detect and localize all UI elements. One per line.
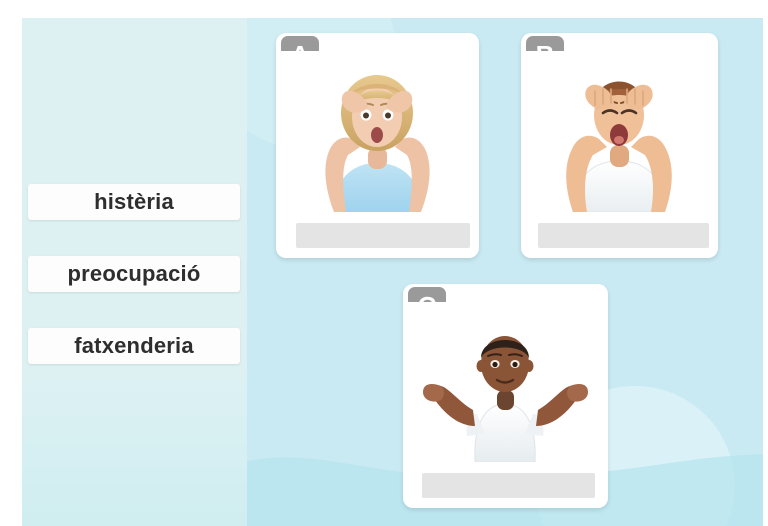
activity-canvas: histèria preocupació fatxenderia A: [0, 0, 768, 526]
photo-boy-screaming-icon: [521, 51, 718, 212]
word-chip-label: histèria: [94, 189, 174, 215]
image-card-b[interactable]: B: [521, 33, 718, 258]
photo-boy-shrugging-icon: [403, 302, 608, 462]
card-dropzone-c[interactable]: [422, 473, 595, 498]
card-dropzone-a[interactable]: [296, 223, 470, 248]
photo-girl-hands-on-head-icon: [276, 51, 479, 212]
word-chip-label: preocupació: [67, 261, 200, 287]
word-chip-histeria[interactable]: histèria: [28, 184, 240, 220]
card-photo-b: [521, 51, 718, 212]
image-card-a[interactable]: A: [276, 33, 479, 258]
word-chip-label: fatxenderia: [74, 333, 194, 359]
card-photo-a: [276, 51, 479, 212]
word-chip-fatxenderia[interactable]: fatxenderia: [28, 328, 240, 364]
word-chip-preocupacio[interactable]: preocupació: [28, 256, 240, 292]
card-photo-c: [403, 302, 608, 462]
image-card-c[interactable]: C: [403, 284, 608, 508]
card-dropzone-b[interactable]: [538, 223, 709, 248]
